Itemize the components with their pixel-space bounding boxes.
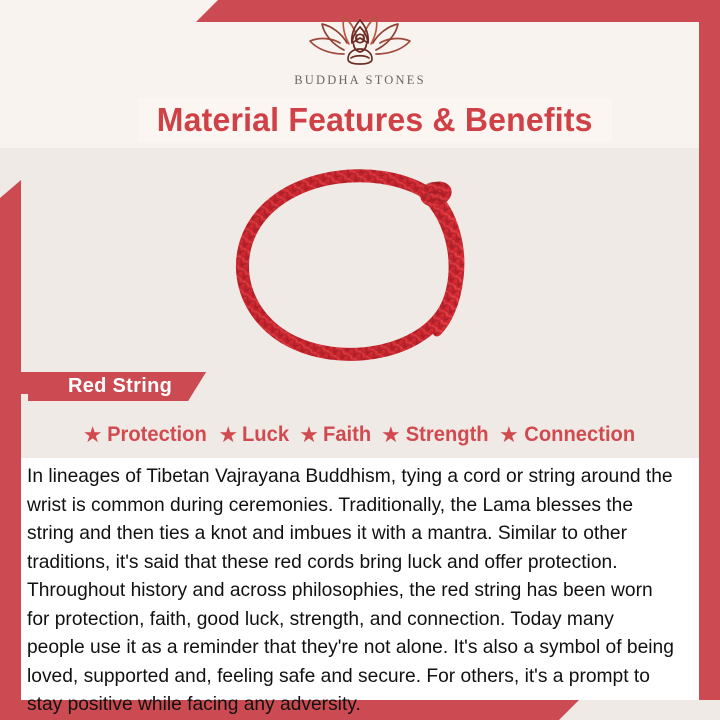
benefit-label: Luck xyxy=(242,423,289,447)
benefit-item: ★ Luck xyxy=(218,423,290,447)
star-icon: ★ xyxy=(218,424,238,446)
star-icon: ★ xyxy=(381,424,401,446)
benefit-item: ★ Connection xyxy=(499,423,637,447)
benefit-label: Faith xyxy=(323,423,371,447)
star-icon: ★ xyxy=(83,424,103,446)
brand-logo: BUDDHA STONES xyxy=(0,14,720,88)
benefit-item: ★ Strength xyxy=(381,423,490,447)
benefits-row: ★ Protection ★ Luck ★ Faith ★ Strength ★… xyxy=(21,418,699,452)
star-icon: ★ xyxy=(499,424,519,446)
benefit-item: ★ Protection xyxy=(83,423,210,447)
lotus-meditation-icon xyxy=(304,14,416,70)
poster-root: BUDDHA STONES Material Features & Benefi… xyxy=(0,0,720,720)
section-tab-red-string: Red String xyxy=(28,372,206,401)
benefit-label: Protection xyxy=(108,423,208,447)
description-text: In lineages of Tibetan Vajrayana Buddhis… xyxy=(27,462,675,719)
title-banner: Material Features & Benefits xyxy=(138,98,612,142)
red-braided-string-bracelet-icon xyxy=(215,150,505,365)
description-panel: In lineages of Tibetan Vajrayana Buddhis… xyxy=(21,458,699,700)
benefit-item: ★ Faith xyxy=(299,423,372,447)
section-tab-label: Red String xyxy=(68,375,172,398)
brand-wordmark: BUDDHA STONES xyxy=(0,73,720,88)
product-image xyxy=(0,150,720,365)
page-title: Material Features & Benefits xyxy=(157,101,593,139)
benefit-label: Strength xyxy=(405,423,488,447)
star-icon: ★ xyxy=(299,424,319,446)
benefit-label: Connection xyxy=(524,423,635,447)
